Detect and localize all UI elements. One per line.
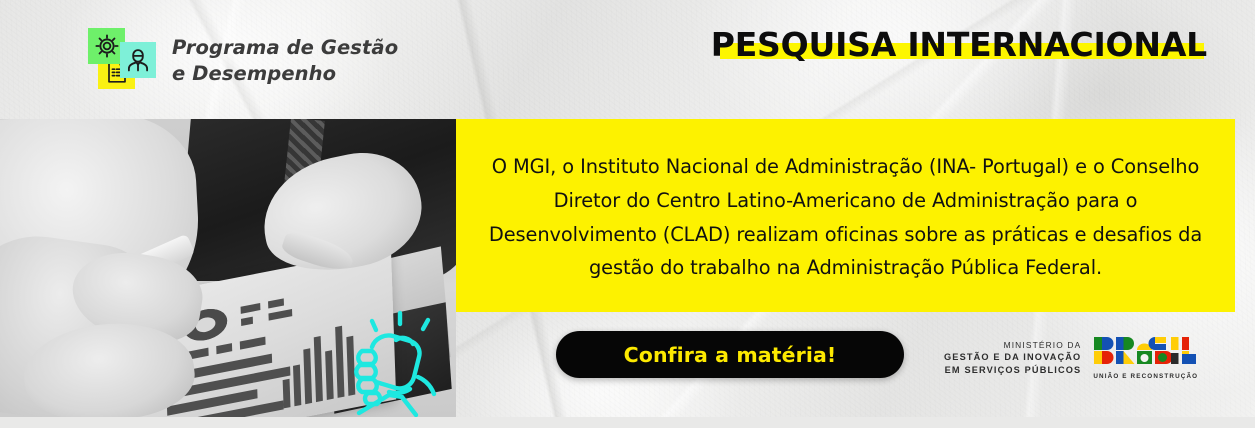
ministry-name: MINISTÉRIO DA GESTÃO E DA INOVAÇÃO EM SE… — [944, 339, 1081, 378]
handshake-icon — [348, 307, 454, 417]
headline-block: PESQUISA INTERNACIONAL — [711, 27, 1207, 64]
person-icon — [120, 42, 156, 78]
brasil-wordmark-icon — [1093, 336, 1197, 366]
program-logo-wordmark: Programa de Gestão e Desempenho — [172, 35, 398, 87]
message-text: O MGI, o Instituto Nacional de Administr… — [482, 150, 1209, 285]
ministry-line-2: GESTÃO E DA INOVAÇÃO — [944, 351, 1081, 364]
government-logo-lockup: MINISTÉRIO DA GESTÃO E DA INOVAÇÃO EM SE… — [944, 336, 1198, 380]
ministry-line-1: MINISTÉRIO DA — [944, 339, 1081, 351]
ministry-line-3: EM SERVIÇOS PÚBLICOS — [944, 364, 1081, 377]
program-logo-icon-tiles — [88, 28, 158, 94]
page-title: PESQUISA INTERNACIONAL — [711, 27, 1207, 64]
program-logo[interactable]: Programa de Gestão e Desempenho — [88, 28, 398, 94]
read-article-button[interactable]: Confira a matéria! — [556, 331, 904, 378]
message-panel: O MGI, o Instituto Nacional de Administr… — [456, 119, 1235, 312]
brasil-brandmark: UNIÃO E RECONSTRUÇÃO — [1093, 336, 1198, 380]
bottom-band — [0, 417, 1255, 428]
campaign-banner: Programa de Gestão e Desempenho PESQUISA… — [0, 0, 1255, 428]
brasil-tagline: UNIÃO E RECONSTRUÇÃO — [1093, 373, 1198, 380]
